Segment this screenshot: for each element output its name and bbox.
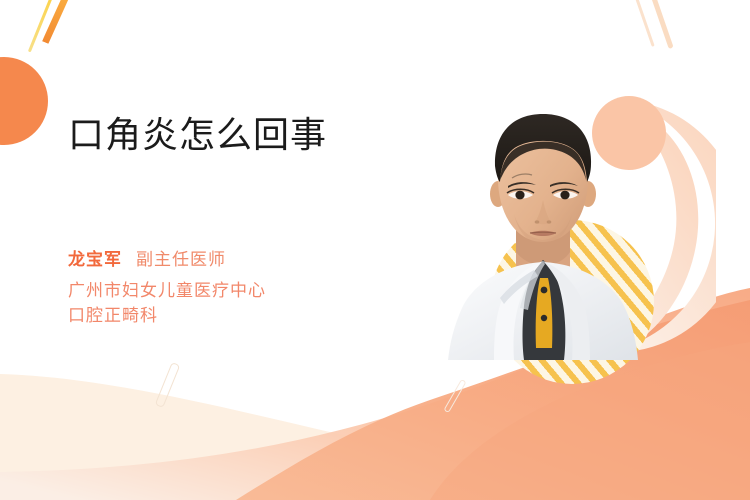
doctor-info-card: 口角炎怎么回事 龙宝军副主任医师 广州市妇女儿童医疗中心 口腔正畸科 — [0, 0, 750, 500]
doctor-department: 口腔正畸科 — [68, 303, 266, 328]
doctor-hospital: 广州市妇女儿童医疗中心 — [68, 278, 266, 303]
doctor-professional-title: 副主任医师 — [136, 250, 226, 269]
title-block: 口角炎怎么回事 — [68, 112, 428, 158]
outlined-diagonal-stroke-icon-2 — [443, 379, 466, 413]
outlined-diagonal-stroke-icon-1 — [155, 362, 181, 408]
portrait-group — [430, 80, 720, 380]
doctor-name: 龙宝军 — [68, 250, 122, 269]
doctor-name-row: 龙宝军副主任医师 — [68, 247, 266, 273]
doctor-credit-block: 龙宝军副主任医师 广州市妇女儿童医疗中心 口腔正畸科 — [68, 247, 266, 328]
page-title: 口角炎怎么回事 — [68, 112, 428, 158]
doctor-portrait — [448, 102, 638, 360]
peach-diagonal-stroke-icon-1 — [632, 0, 654, 47]
left-orange-circle-decoration — [0, 57, 48, 145]
